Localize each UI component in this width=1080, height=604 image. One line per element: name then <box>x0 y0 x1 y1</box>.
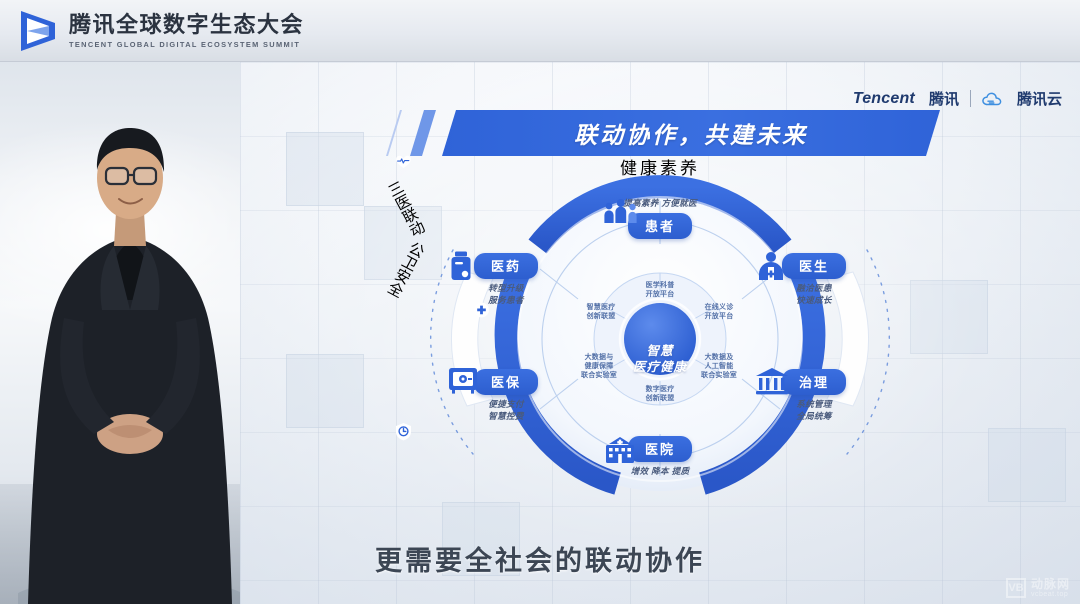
presentation-slide: Tencent 腾讯 腾讯云 联动协作，共建未来 <box>240 62 1080 604</box>
node-pharmaceutical-label[interactable]: 医药 <box>474 253 538 279</box>
inner-segment-top: 医学科普开放平台 <box>632 282 688 300</box>
watermark-cn: 动脉网 <box>1031 578 1070 591</box>
node-medical-insurance-caption: 便捷支付智慧控费 <box>447 399 565 422</box>
watermark-en: vcbeat.top <box>1031 591 1070 598</box>
tencent-wordmark: Tencent <box>853 90 915 108</box>
brand-title-cn: 腾讯全球数字生态大会 <box>69 13 304 37</box>
brand-title-en: TENCENT GLOBAL DIGITAL ECOSYSTEM SUMMIT <box>69 40 304 49</box>
inner-segment-lower-right: 大数据及人工智能联合实验室 <box>691 354 747 380</box>
logo-divider <box>970 90 971 107</box>
ecosystem-diagram: 健康素养 三医联动 公卫安全 智慧 医疗健康 医学科普开放平台 <box>395 154 925 524</box>
banner-main: 联动协作，共建未来 <box>442 110 940 156</box>
node-doctor-caption: 融洽医患快速成长 <box>755 283 873 306</box>
node-hospital-caption: 增效 降本 提质 <box>601 466 719 478</box>
presenter-figure <box>18 104 248 604</box>
tencent-cloud-cn: 腾讯云 <box>1017 88 1062 109</box>
slide-title-banner: 联动协作，共建未来 <box>380 110 940 156</box>
inner-segment-upper-left: 智慧医疗创新联盟 <box>573 304 629 322</box>
slide-title-text: 联动协作，共建未来 <box>574 116 808 150</box>
shield-clock-icon <box>395 422 412 441</box>
brand-text: 腾讯全球数字生态大会 TENCENT GLOBAL DIGITAL ECOSYS… <box>69 13 304 49</box>
node-medical-insurance[interactable]: 医保 便捷支付智慧控费 <box>447 366 565 422</box>
tencent-wordmark-cn: 腾讯 <box>929 88 959 109</box>
watermark: VB 动脉网 vcbeat.top <box>1006 578 1070 598</box>
node-doctor[interactable]: 医生 融洽医患快速成长 <box>755 250 873 306</box>
slide-screenshot: 腾讯全球数字生态大会 TENCENT GLOBAL DIGITAL ECOSYS… <box>0 0 1080 604</box>
banner-accent-far <box>386 110 402 156</box>
banner-accent-near <box>410 110 436 156</box>
node-governance-label[interactable]: 治理 <box>782 369 846 395</box>
brand-lockup: 腾讯全球数字生态大会 TENCENT GLOBAL DIGITAL ECOSYS… <box>18 9 304 53</box>
tencent-summit-logo-icon <box>18 9 58 53</box>
node-pharmaceutical[interactable]: 医药 转型升级服务患者 <box>447 250 565 306</box>
node-governance[interactable]: 治理 系统管理全局统筹 <box>755 366 873 422</box>
node-hospital[interactable]: 医院 增效 降本 提质 <box>601 436 719 478</box>
node-doctor-label[interactable]: 医生 <box>782 253 846 279</box>
tencent-logo-group: Tencent 腾讯 腾讯云 <box>853 88 1062 109</box>
node-medical-insurance-label[interactable]: 医保 <box>474 369 538 395</box>
inner-segment-upper-right: 在线义诊开放平台 <box>691 304 747 322</box>
event-header-bar: 腾讯全球数字生态大会 TENCENT GLOBAL DIGITAL ECOSYS… <box>0 0 1080 62</box>
heart-pulse-icon <box>395 154 412 169</box>
node-pharmaceutical-caption: 转型升级服务患者 <box>447 283 565 306</box>
inner-segment-bottom: 数字医疗创新联盟 <box>632 386 688 404</box>
inner-segment-lower-left: 大数据与健康保障联合实验室 <box>571 354 627 380</box>
node-governance-caption: 系统管理全局统筹 <box>755 399 873 422</box>
cloud-icon <box>982 92 1002 106</box>
video-caption: 更需要全社会的联动协作 <box>0 539 1080 578</box>
watermark-text: 动脉网 vcbeat.top <box>1031 578 1070 598</box>
node-patient[interactable]: 提高素养 方便就医 患者 <box>601 198 719 239</box>
watermark-mark: VB <box>1006 578 1026 598</box>
